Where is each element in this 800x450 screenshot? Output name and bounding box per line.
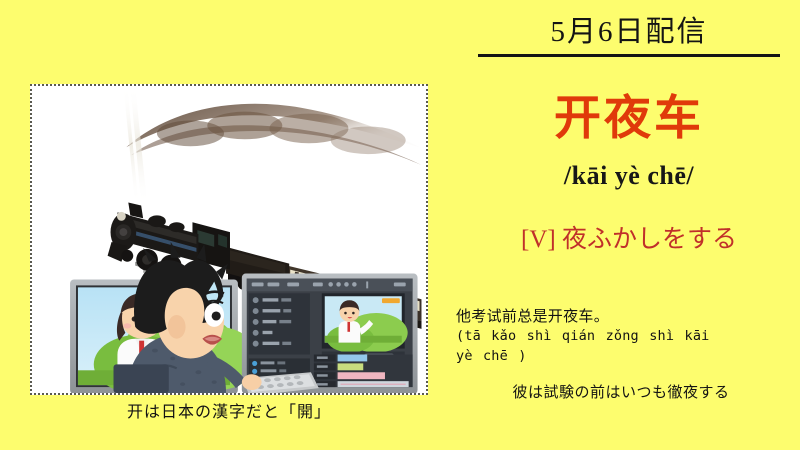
date-header: 5月6日配信 bbox=[470, 12, 788, 57]
example-chinese: 他考试前总是开夜车。 bbox=[456, 306, 786, 326]
definition-text: [V] 夜ふかしをする bbox=[466, 224, 792, 256]
example-sentence-block: 他考试前总是开夜车。 (tā kǎo shì qián zǒng shì kāi… bbox=[456, 306, 786, 366]
slide-root: 5月6日配信 开夜车 /kāi yè chē/ [V] 夜ふかしをする 他考试前… bbox=[0, 0, 800, 450]
illustration-panel bbox=[30, 84, 428, 395]
example-pinyin-line-1: (tā kǎo shì qián zǒng shì kāi bbox=[456, 327, 786, 346]
headword-pinyin: /kāi yè chē/ bbox=[470, 160, 788, 192]
right-monitor bbox=[242, 274, 418, 393]
headword-title: 开夜车 bbox=[470, 92, 788, 146]
header-underline bbox=[478, 54, 780, 57]
illustration-artwork bbox=[32, 86, 426, 393]
video-editing-software bbox=[247, 278, 413, 387]
example-pinyin-line-2: yè chē ) bbox=[456, 347, 786, 366]
broadcast-date-text: 5月6日配信 bbox=[470, 12, 788, 52]
illustration-caption: 开は日本の漢字だと「開」 bbox=[30, 401, 428, 423]
example-japanese-translation: 彼は試験の前はいつも徹夜する bbox=[456, 382, 786, 403]
